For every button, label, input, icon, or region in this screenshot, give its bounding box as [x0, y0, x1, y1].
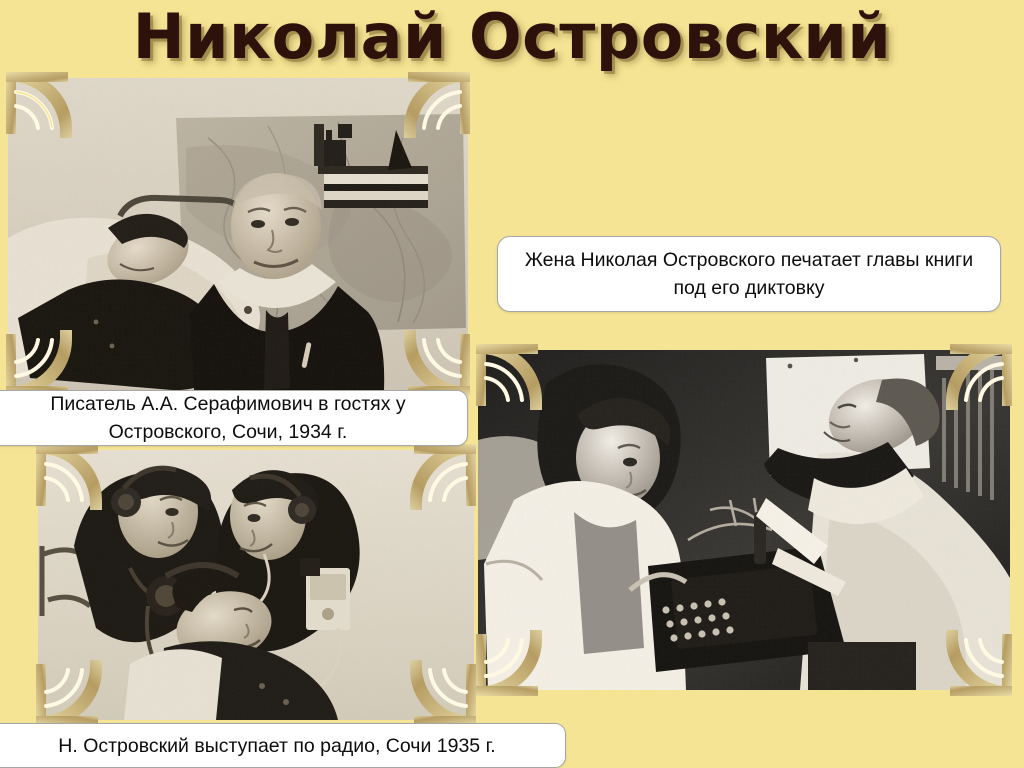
photo-radio-image — [38, 450, 474, 720]
photo-serafimovich-image — [8, 78, 468, 390]
slide-canvas: Николай Островский — [0, 0, 1024, 768]
caption-radio-broadcast: Н. Островский выступает по радио, Сочи 1… — [0, 723, 566, 768]
caption-serafimovich: Писатель А.А. Серафимович в гостях у Ост… — [0, 390, 468, 446]
photo-typewriter-image — [478, 350, 1010, 690]
photo-typewriter — [478, 350, 1010, 690]
caption-wife-typing: Жена Николая Островского печатает главы … — [497, 236, 1001, 312]
photo-radio — [38, 450, 474, 720]
photo-serafimovich — [8, 78, 468, 390]
page-title: Николай Островский — [0, 2, 1024, 72]
